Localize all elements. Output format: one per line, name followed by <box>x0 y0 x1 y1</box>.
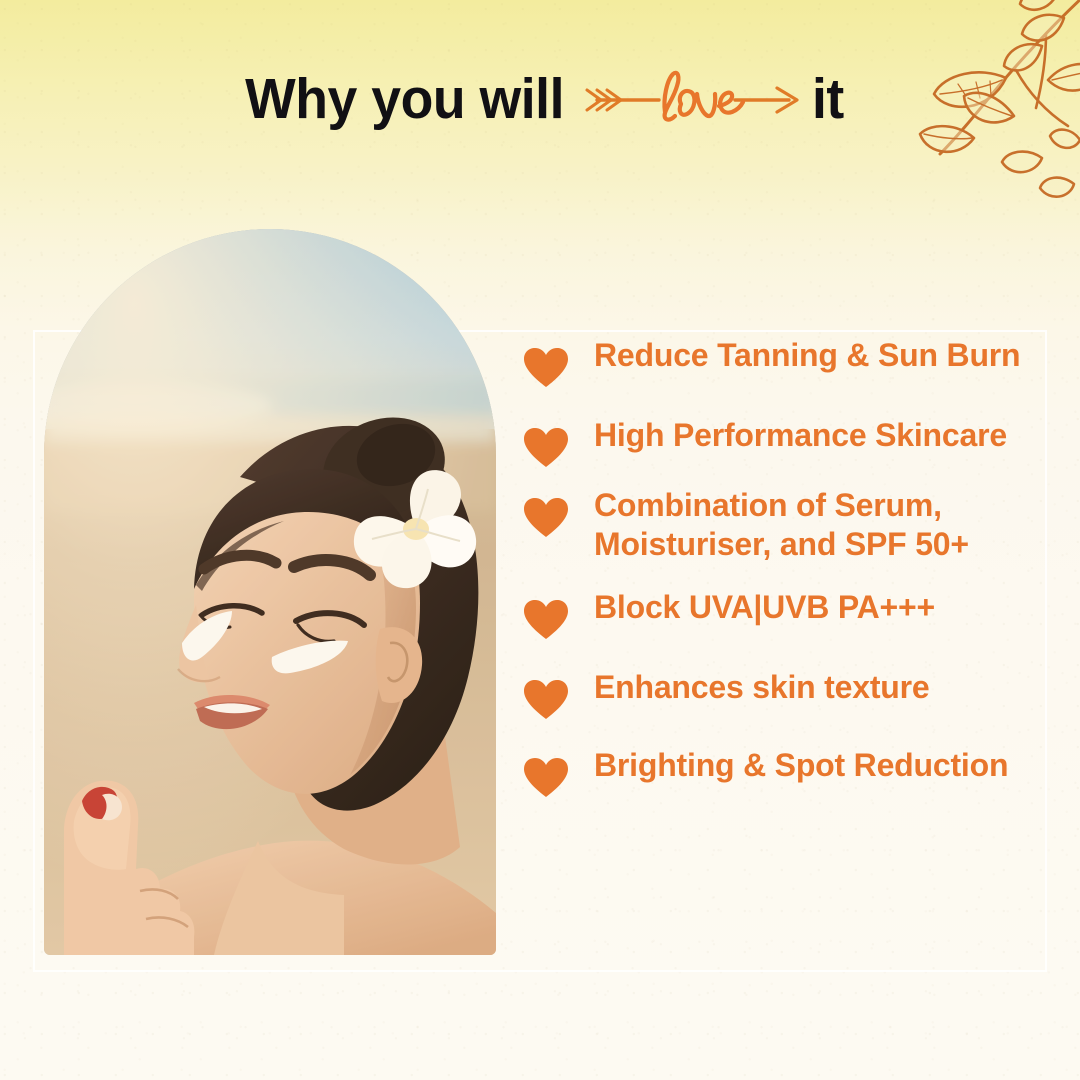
feature-label: Combination of Serum, Moisturiser, and S… <box>594 486 1064 564</box>
page-title-after: it <box>812 71 844 128</box>
feature-item: Enhances skin texture <box>524 668 1064 720</box>
page-title: Why you will <box>0 68 1080 130</box>
heart-icon <box>524 428 568 468</box>
feature-label: Enhances skin texture <box>594 668 930 707</box>
feature-label: Brighting & Spot Reduction <box>594 746 1008 785</box>
hero-photo <box>44 229 496 955</box>
feature-item: High Performance Skincare <box>524 416 1064 468</box>
heart-icon <box>524 348 568 388</box>
page-title-before: Why you will <box>246 71 565 128</box>
heart-icon <box>524 680 568 720</box>
heart-icon <box>524 600 568 640</box>
feature-item: Reduce Tanning & Sun Burn <box>524 336 1064 388</box>
feature-list: Reduce Tanning & Sun Burn High Performan… <box>524 336 1064 820</box>
feature-item: Brighting & Spot Reduction <box>524 746 1064 798</box>
heart-icon <box>524 758 568 798</box>
heart-icon <box>524 498 568 538</box>
feature-label: High Performance Skincare <box>594 416 1007 455</box>
hero-photo-image <box>44 229 496 955</box>
poster-canvas: Why you will <box>0 0 1080 1080</box>
love-arrow-icon <box>585 68 801 130</box>
feature-label: Reduce Tanning & Sun Burn <box>594 336 1020 375</box>
feature-item: Block UVA|UVB PA+++ <box>524 588 1064 640</box>
feature-item: Combination of Serum, Moisturiser, and S… <box>524 486 1064 564</box>
feature-label: Block UVA|UVB PA+++ <box>594 588 935 627</box>
